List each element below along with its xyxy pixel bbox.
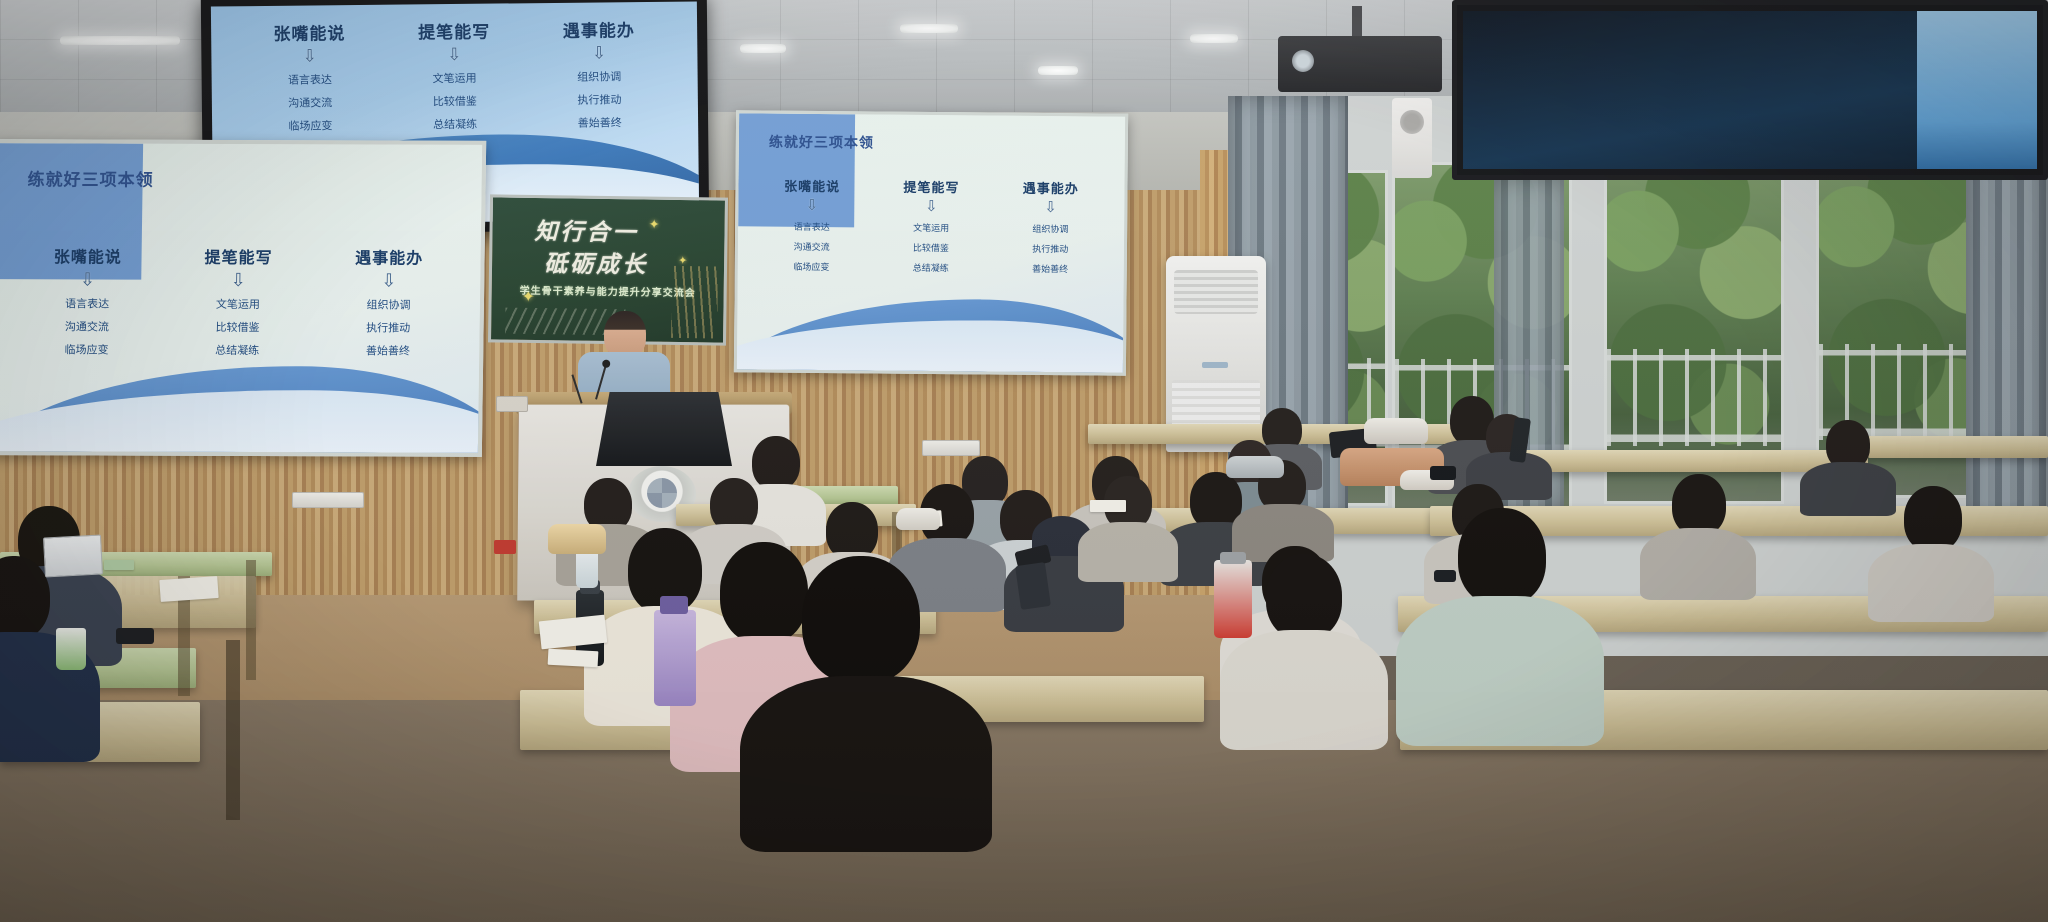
podium-console[interactable] — [596, 392, 732, 466]
skill-item: 执行推动 — [1022, 242, 1078, 255]
down-arrow-icon: ⇩ — [418, 46, 490, 64]
slide-light-background: 练就好三项本领 张嘴能说 ⇩ 语言表达 沟通交流 临场应变 提笔能写 ⇩ 文笔运… — [0, 143, 482, 453]
skill-heading: 张嘴能说 — [784, 176, 840, 195]
bag[interactable] — [896, 508, 940, 530]
down-arrow-icon: ⇩ — [563, 44, 635, 62]
projector-mount-arm — [1352, 6, 1362, 40]
skill-column: 遇事能办 ⇩ 组织协调 执行推动 善始善终 — [354, 244, 424, 358]
wall-switch-panel[interactable] — [292, 492, 364, 508]
skill-item: 文笔运用 — [903, 221, 959, 234]
skill-item: 语言表达 — [53, 295, 121, 311]
slide-light-background: 练就好三项本领 张嘴能说 ⇩ 语言表达 沟通交流 临场应变 提笔能写 ⇩ 文笔运… — [737, 113, 1125, 372]
skill-item: 组织协调 — [1022, 222, 1078, 235]
skill-column: 张嘴能说 ⇩ 语言表达 沟通交流 临场应变 — [273, 19, 346, 134]
skill-column: 张嘴能说 ⇩ 语言表达 沟通交流 临场应变 — [783, 176, 840, 273]
skill-column: 张嘴能说 ⇩ 语言表达 沟通交流 临场应变 — [52, 243, 122, 357]
skill-item: 沟通交流 — [274, 94, 346, 111]
skill-column: 提笔能写 ⇩ 文笔运用 比较借鉴 总结凝练 — [418, 18, 491, 133]
down-arrow-icon: ⇩ — [903, 199, 959, 214]
skill-item: 文笔运用 — [419, 70, 491, 87]
blackboard-heading: 知行合一 — [534, 212, 638, 247]
skill-item: 沟通交流 — [784, 240, 840, 253]
air-conditioner[interactable] — [1166, 256, 1266, 452]
down-arrow-icon: ⇩ — [53, 270, 121, 288]
chalk-decoration — [671, 266, 718, 339]
skill-item: 执行推动 — [563, 91, 635, 108]
skill-heading: 提笔能写 — [903, 177, 959, 196]
skill-item: 临场应变 — [783, 260, 839, 273]
skill-item: 语言表达 — [274, 71, 346, 88]
bottle-cap — [660, 596, 688, 614]
paper-sheet — [104, 560, 134, 570]
paper-sheet — [548, 649, 599, 668]
down-arrow-icon: ⇩ — [204, 271, 272, 289]
skill-column: 提笔能写 ⇩ 文笔运用 比较借鉴 总结凝练 — [903, 177, 960, 274]
down-arrow-icon: ⇩ — [784, 198, 840, 213]
ac-vent — [1174, 270, 1258, 314]
water-bottle[interactable] — [1214, 560, 1252, 638]
skill-heading: 提笔能写 — [418, 18, 490, 44]
red-marker — [494, 540, 516, 554]
ceiling-light — [740, 44, 786, 53]
skill-item: 比较借鉴 — [203, 319, 271, 335]
ceiling-light — [900, 24, 958, 33]
skill-heading: 提笔能写 — [204, 244, 272, 268]
ac-display — [1202, 362, 1228, 368]
skill-item: 临场应变 — [52, 341, 120, 357]
blackboard-heading: 砥砺成长 — [544, 244, 648, 279]
skill-item: 沟通交流 — [53, 318, 121, 334]
curtain[interactable] — [1966, 150, 2048, 530]
window-railing — [1607, 349, 1781, 446]
left-projection-screen[interactable]: 练就好三项本领 张嘴能说 ⇩ 语言表达 沟通交流 临场应变 提笔能写 ⇩ 文笔运… — [0, 139, 486, 457]
paper-sheet — [1090, 500, 1126, 512]
down-arrow-icon: ⇩ — [355, 271, 423, 289]
ceiling-light — [1038, 66, 1078, 75]
smartphone[interactable] — [1434, 570, 1456, 582]
smartphone[interactable] — [1430, 466, 1456, 480]
desk-leg — [246, 560, 256, 680]
right-projection-screen[interactable]: 练就好三项本领 张嘴能说 ⇩ 语言表达 沟通交流 临场应变 提笔能写 ⇩ 文笔运… — [734, 110, 1128, 375]
skill-heading: 张嘴能说 — [54, 243, 122, 267]
tv-screen — [1463, 11, 2037, 169]
water-bottle[interactable] — [654, 610, 696, 706]
bottle-cap — [1220, 552, 1246, 564]
cup[interactable] — [56, 628, 86, 670]
skill-item: 组织协调 — [354, 296, 422, 312]
desk-row — [1868, 436, 2048, 458]
projector-lens-icon — [1292, 50, 1314, 72]
blackboard-subheading: 学生骨干素养与能力提升分享交流会 — [520, 282, 696, 299]
skill-heading: 遇事能办 — [1023, 178, 1079, 197]
wall-outlet-plate — [922, 440, 980, 456]
skill-column: 提笔能写 ⇩ 文笔运用 比较借鉴 总结凝练 — [203, 244, 273, 358]
skill-item: 比较借鉴 — [903, 241, 959, 254]
skill-item: 组织协调 — [563, 68, 635, 85]
skill-item: 善始善终 — [354, 342, 422, 358]
down-arrow-icon: ⇩ — [1023, 200, 1079, 215]
laptop[interactable] — [43, 535, 103, 578]
skill-heading: 遇事能办 — [563, 16, 635, 42]
skill-item: 善始善终 — [1022, 262, 1078, 275]
desk-leg — [226, 640, 240, 820]
smartphone[interactable] — [116, 628, 154, 644]
smartphone[interactable] — [1015, 562, 1051, 610]
skill-item: 文笔运用 — [204, 296, 272, 312]
skill-column: 遇事能办 ⇩ 组织协调 执行推动 善始善终 — [563, 16, 636, 131]
skill-item: 执行推动 — [354, 319, 422, 335]
skill-item: 总结凝练 — [203, 342, 271, 358]
skill-heading: 张嘴能说 — [273, 19, 345, 45]
lecture-hall-photo: 张嘴能说 ⇩ 语言表达 沟通交流 临场应变 提笔能写 ⇩ 文笔运用 比较借鉴 总… — [0, 0, 2048, 922]
paper-sheet[interactable] — [159, 576, 218, 602]
bag[interactable] — [1226, 456, 1284, 478]
tote-bag[interactable] — [1364, 418, 1428, 444]
down-arrow-icon: ⇩ — [274, 47, 346, 65]
wall-speaker — [1392, 98, 1432, 178]
ceiling-light — [60, 36, 180, 45]
tv-screen-glare — [1917, 11, 2037, 169]
right-wall-tv[interactable] — [1452, 0, 2048, 180]
skill-item: 比较借鉴 — [419, 93, 491, 110]
bag[interactable] — [548, 524, 606, 554]
skill-item: 总结凝练 — [903, 261, 959, 274]
skill-item: 善始善终 — [564, 114, 636, 131]
ceiling-light — [1190, 34, 1238, 43]
skill-item: 语言表达 — [784, 220, 840, 233]
skill-column: 遇事能办 ⇩ 组织协调 执行推动 善始善终 — [1022, 178, 1079, 275]
desk-item-box — [496, 396, 528, 412]
skill-item: 总结凝练 — [419, 116, 491, 133]
skill-item: 临场应变 — [274, 117, 346, 134]
skill-heading: 遇事能办 — [355, 244, 423, 268]
